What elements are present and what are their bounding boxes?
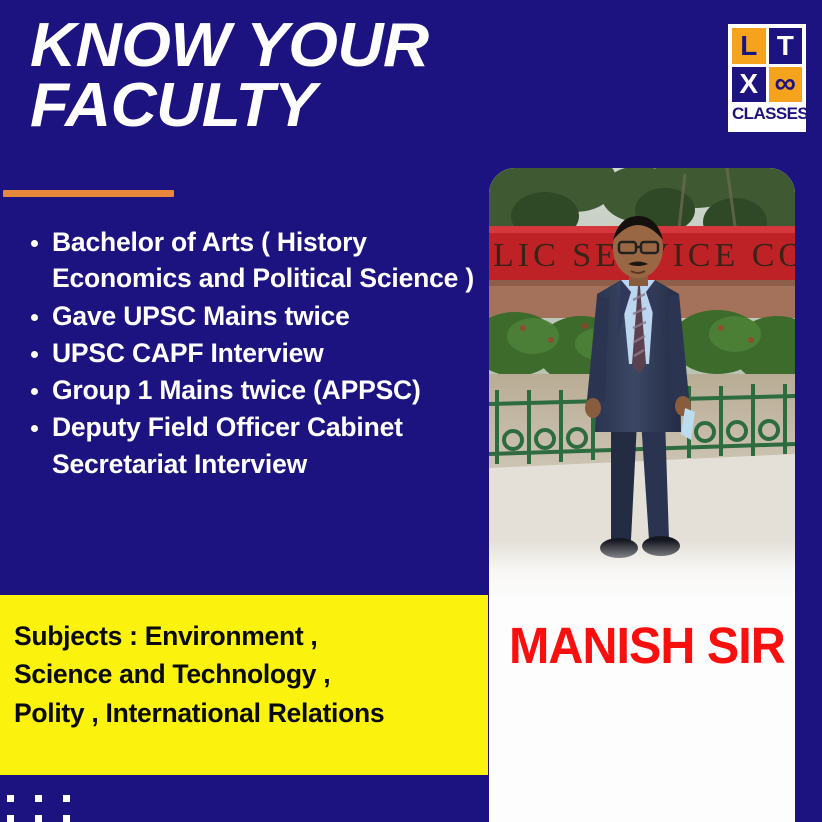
accent-underline [3,190,174,197]
logo-grid: L T X ∞ [732,28,802,102]
subjects-line-3: Polity , International Relations [14,694,476,732]
logo-letter-x: X [732,67,766,103]
dot [35,815,42,822]
logo-wordmark: CLASSES [732,102,802,127]
list-item: Gave UPSC Mains twice [18,298,488,334]
subjects-panel: Subjects : Environment , Science and Tec… [0,595,488,775]
list-item: Group 1 Mains twice (APPSC) [18,372,488,408]
list-item: Bachelor of Arts ( History Economics and… [18,224,488,297]
faculty-poster: LIC SERVICE COMM [0,0,822,822]
credentials-list: Bachelor of Arts ( History Economics and… [18,224,488,483]
list-item: Deputy Field Officer Cabinet Secretariat… [18,409,488,482]
headline-line-2: Faculty [30,76,473,136]
logo-letter-l: L [732,28,766,64]
page-title: Know Your Faculty [30,16,473,136]
faculty-name: MANISH SIR [509,620,781,671]
infinity-icon: ∞ [769,67,803,103]
headline-line-1: Know Your [30,11,429,80]
dot-grid-decoration [0,788,80,822]
dot [63,815,70,822]
logo-letter-t: T [769,28,803,64]
faculty-photo: LIC SERVICE COMM [489,168,795,598]
dot [7,815,14,822]
list-item: UPSC CAPF Interview [18,335,488,371]
dot [63,795,70,802]
ltx-classes-logo: L T X ∞ CLASSES [728,24,806,132]
dot [7,795,14,802]
subjects-line-2: Science and Technology , [14,655,476,693]
subjects-line-1: Subjects : Environment , [14,617,476,655]
dot [35,795,42,802]
